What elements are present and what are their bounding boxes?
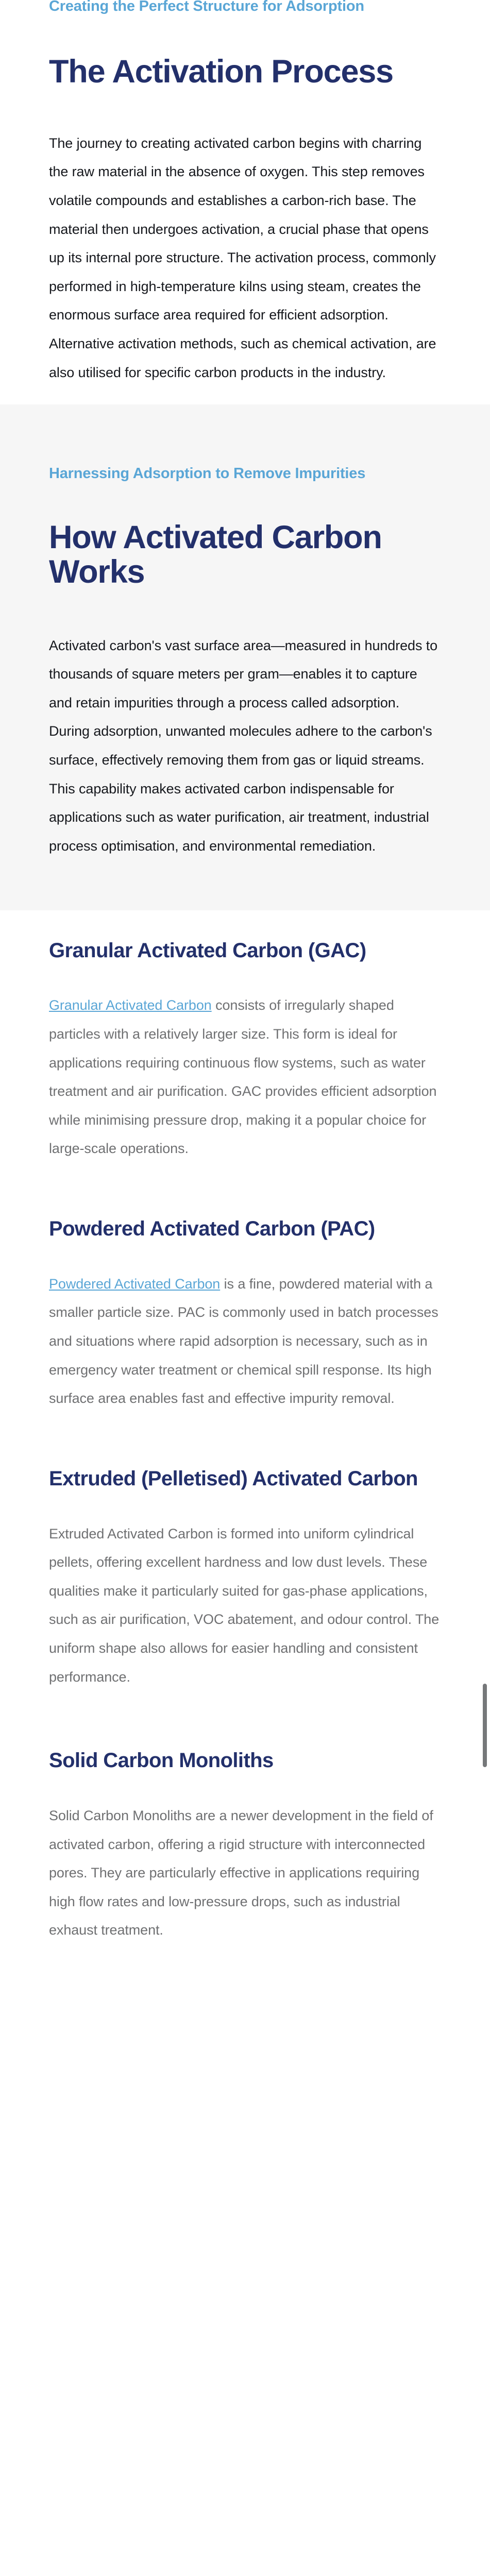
type-body: Granular Activated Carbon consists of ir… [49,991,441,1163]
section-eyebrow: Creating the Perfect Structure for Adsor… [49,0,441,15]
type-heading: Powdered Activated Carbon (PAC) [49,1217,441,1241]
type-body: Powdered Activated Carbon is a fine, pow… [49,1270,441,1413]
type-heading: Extruded (Pelletised) Activated Carbon [49,1467,441,1490]
granular-activated-carbon-link[interactable]: Granular Activated Carbon [49,997,212,1013]
type-body-text: is a fine, powdered material with a smal… [49,1276,438,1406]
section-activation-process: Creating the Perfect Structure for Adsor… [0,0,490,404]
section-heading: The Activation Process [49,55,441,89]
section-solid-carbon-monoliths: Solid Carbon Monoliths Solid Carbon Mono… [0,1691,490,1945]
article-page: Creating the Perfect Structure for Adsor… [0,0,490,2576]
type-body: Solid Carbon Monoliths are a newer devel… [49,1802,441,1945]
powdered-activated-carbon-link[interactable]: Powdered Activated Carbon [49,1276,220,1292]
section-body: The journey to creating activated carbon… [49,129,441,387]
section-granular-activated-carbon: Granular Activated Carbon (GAC) Granular… [0,910,490,1163]
section-heading: How Activated Carbon Works [49,520,441,589]
vertical-scrollbar-thumb[interactable] [483,1684,487,1767]
section-powdered-activated-carbon: Powdered Activated Carbon (PAC) Powdered… [0,1163,490,1413]
section-extruded-activated-carbon: Extruded (Pelletised) Activated Carbon E… [0,1413,490,1691]
section-body: Activated carbon's vast surface area—mea… [49,632,441,861]
type-heading: Solid Carbon Monoliths [49,1749,441,1772]
section-how-activated-carbon-works: Harnessing Adsorption to Remove Impuriti… [0,404,490,910]
section-eyebrow: Harnessing Adsorption to Remove Impuriti… [49,465,441,483]
type-body: Extruded Activated Carbon is formed into… [49,1520,441,1692]
type-heading: Granular Activated Carbon (GAC) [49,939,441,962]
type-body-text: consists of irregularly shaped particles… [49,997,436,1156]
